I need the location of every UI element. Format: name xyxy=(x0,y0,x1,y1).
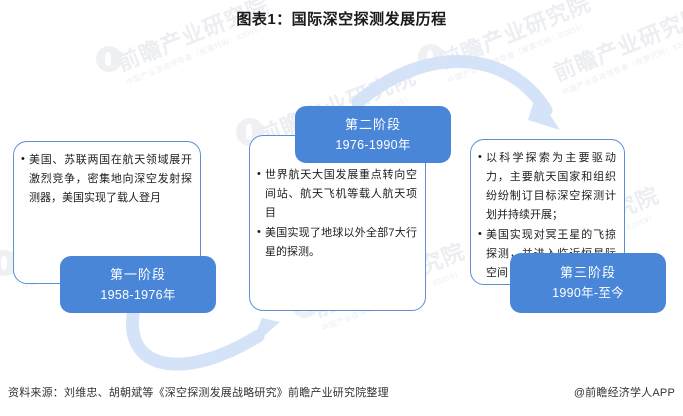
stage-2-bullet-2: 美国实现了地球以外全部7大行星的探测。 xyxy=(257,224,417,262)
stage-2-period: 1976-1990年 xyxy=(335,135,410,155)
source-note: 资料来源：刘维忠、胡朝斌等《深空探测发展战略研究》前瞻产业研究院整理 xyxy=(8,384,389,400)
stage-3-label-box: 第三阶段 1990年-至今 xyxy=(510,253,666,313)
stage-1-period: 1958-1976年 xyxy=(100,285,175,305)
stage-1-name: 第一阶段 xyxy=(110,265,166,285)
arrow-stage1-to-stage2 xyxy=(132,315,280,364)
infographic-page: 前瞻产业研究院 中国产业咨询领导者（股票代码：83959） 前瞻产业研究院 中国… xyxy=(0,0,683,416)
stage-2-bullet-1: 世界航天大国发展重点转向空间站、航天飞机等载人航天项目 xyxy=(257,166,417,223)
stage-1-label-box: 第一阶段 1958-1976年 xyxy=(60,256,216,313)
stage-3-name: 第三阶段 xyxy=(560,263,616,283)
stage-1-bullet-1: 美国、苏联两国在航天领域展开激烈竞争，密集地向深空发射探测器，美国实现了载人登月 xyxy=(21,151,192,208)
footer-divider xyxy=(0,372,683,373)
stage-2-name: 第二阶段 xyxy=(345,115,401,135)
stage-1-body: 美国、苏联两国在航天领域展开激烈竞争，密集地向深空发射探测器，美国实现了载人登月 xyxy=(14,142,200,217)
app-attribution: @前瞻经济学人APP xyxy=(574,384,675,400)
page-title: 图表1：国际深空探测发展历程 xyxy=(0,8,683,29)
stage-3-bullet-1: 以科学探索为主要驱动力，主要航天国家和组织纷纷制订目标深空探测计划并持续开展； xyxy=(478,149,616,225)
stage-3-period: 1990年-至今 xyxy=(552,283,624,303)
stage-2-label-box: 第二阶段 1976-1990年 xyxy=(295,106,451,163)
